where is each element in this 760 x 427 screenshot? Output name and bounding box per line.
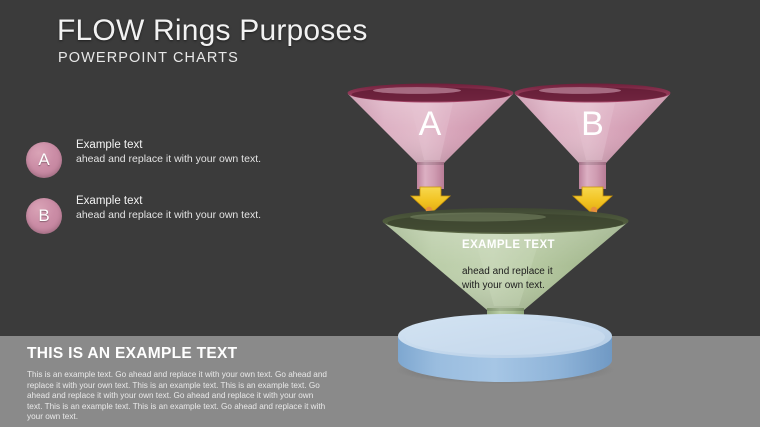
funnel-b-label: B	[581, 105, 604, 143]
funnel-a-rim-gloss	[373, 87, 461, 94]
funnel-green-rim-gloss	[410, 213, 546, 222]
funnel-diagram: A B	[0, 0, 760, 427]
base-cylinder-top-inner	[405, 319, 605, 355]
base-cylinder[interactable]	[395, 314, 615, 384]
funnel-green-heading: EXAMPLE TEXT	[462, 239, 555, 251]
funnel-green-body-line-2: with your own text.	[461, 280, 545, 291]
slide-canvas: FLOW Rings Purposes POWERPOINT CHARTS A …	[0, 0, 760, 427]
funnel-b-rim-gloss	[539, 87, 621, 94]
funnel-green-body-line-1: ahead and replace it	[462, 266, 553, 277]
funnel-b-stem-shade	[579, 162, 606, 165]
funnel-a-stem-shade	[417, 162, 444, 165]
funnel-b-stem	[579, 162, 606, 189]
funnel-a-stem	[417, 162, 444, 189]
funnel-green-stem-shade	[487, 308, 524, 311]
funnel-a-label: A	[419, 105, 442, 143]
